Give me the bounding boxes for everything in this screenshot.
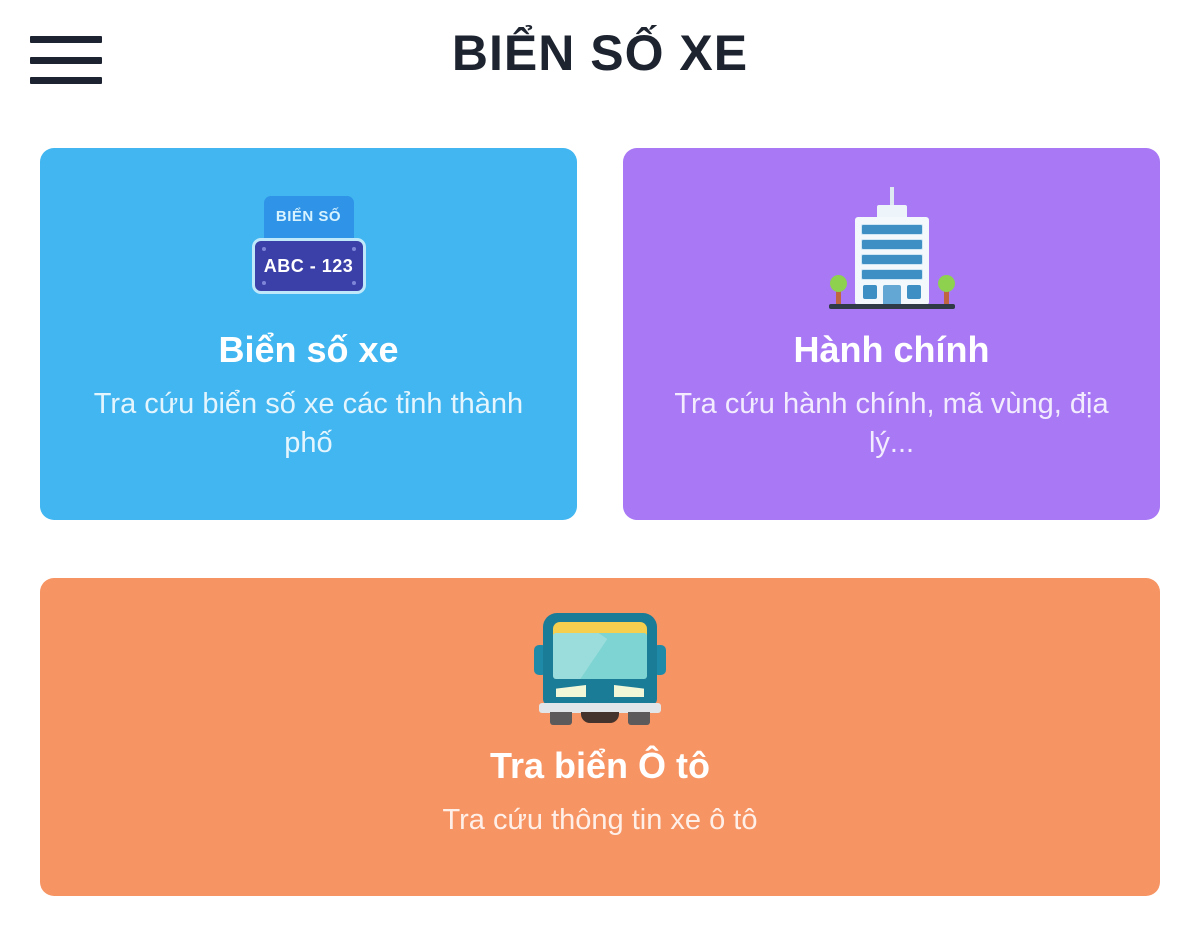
building-window-row-1 bbox=[861, 224, 923, 235]
building-window-left bbox=[863, 285, 877, 299]
tree-left-crown bbox=[830, 275, 847, 292]
bus-headlight-left bbox=[556, 685, 586, 697]
plate-screw-bottom-left bbox=[262, 281, 266, 285]
tree-right-crown bbox=[938, 275, 955, 292]
license-plate-icon: BIỂN SỐ ABC - 123 bbox=[252, 196, 366, 300]
building-antenna bbox=[890, 187, 894, 207]
plate-banner-text: BIỂN SỐ bbox=[276, 208, 341, 225]
card-description: Tra cứu hành chính, mã vùng, địa lý... bbox=[657, 385, 1127, 463]
card-bien-so-xe[interactable]: BIỂN SỐ ABC - 123 Biển số xe Tra cứu biể… bbox=[40, 148, 577, 520]
page-title: BIỂN SỐ XE bbox=[0, 24, 1200, 82]
bus-wheel-left bbox=[550, 712, 572, 725]
plate-screw-top-left bbox=[262, 247, 266, 251]
office-building-icon bbox=[827, 187, 957, 309]
card-row-top: BIỂN SỐ ABC - 123 Biển số xe Tra cứu biể… bbox=[40, 148, 1160, 520]
building-window-right bbox=[907, 285, 921, 299]
bus-front-icon bbox=[534, 607, 666, 725]
plate-body: ABC - 123 bbox=[252, 238, 366, 294]
building-window-row-2 bbox=[861, 239, 923, 250]
card-description: Tra cứu thông tin xe ô tô bbox=[443, 801, 758, 840]
plate-screw-bottom-right bbox=[352, 281, 356, 285]
bus-body bbox=[543, 613, 657, 705]
card-title: Biển số xe bbox=[218, 328, 398, 371]
card-title: Hành chính bbox=[794, 328, 990, 371]
plate-screw-top-right bbox=[352, 247, 356, 251]
app-header: BIỂN SỐ XE bbox=[0, 0, 1200, 125]
card-grid: BIỂN SỐ ABC - 123 Biển số xe Tra cứu biể… bbox=[40, 148, 1160, 896]
bus-headlight-right bbox=[614, 685, 644, 697]
tree-left-icon bbox=[827, 275, 849, 305]
bus-windshield bbox=[553, 633, 647, 679]
building-entrance bbox=[883, 285, 901, 305]
card-tra-bien-o-to[interactable]: Tra biển Ô tô Tra cứu thông tin xe ô tô bbox=[40, 578, 1160, 896]
card-title: Tra biển Ô tô bbox=[490, 744, 710, 787]
building-ground-line bbox=[829, 304, 955, 309]
card-hanh-chinh[interactable]: Hành chính Tra cứu hành chính, mã vùng, … bbox=[623, 148, 1160, 520]
building-body bbox=[855, 217, 929, 305]
app-root: BIỂN SỐ XE BIỂN SỐ ABC bbox=[0, 0, 1200, 940]
bus-front-icon-wrap bbox=[534, 602, 666, 730]
building-window-row-4 bbox=[861, 269, 923, 280]
bus-wheel-right bbox=[628, 712, 650, 725]
license-plate-icon-wrap: BIỂN SỐ ABC - 123 bbox=[252, 182, 366, 314]
plate-number-text: ABC - 123 bbox=[264, 256, 354, 277]
office-building-icon-wrap bbox=[827, 182, 957, 314]
tree-right-icon bbox=[935, 275, 957, 305]
building-window-row-3 bbox=[861, 254, 923, 265]
card-description: Tra cứu biển số xe các tỉnh thành phố bbox=[74, 385, 544, 463]
bus-undercarriage bbox=[581, 712, 619, 723]
